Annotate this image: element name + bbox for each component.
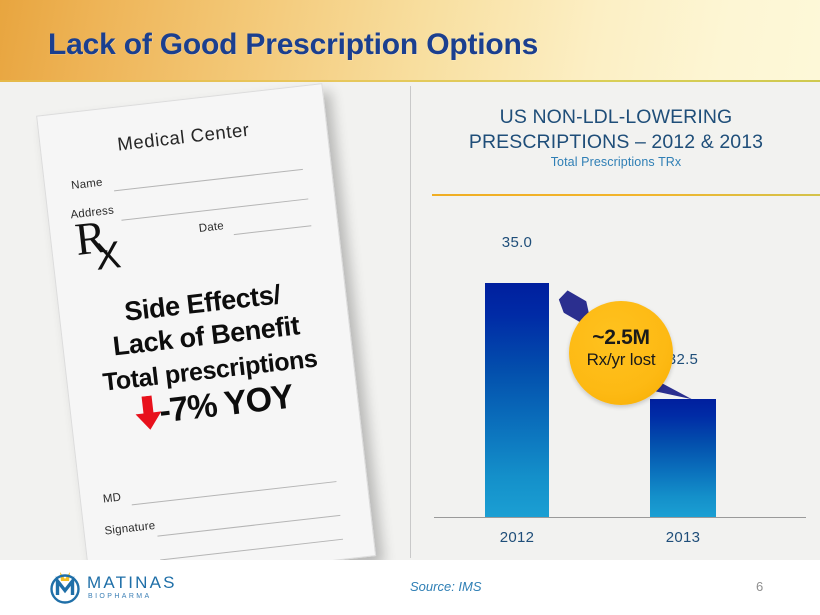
bar-value-2013: 32.5: [648, 351, 718, 368]
field-rule-signature-2: [160, 539, 343, 561]
slide-canvas: Lack of Good Prescription Options Medica…: [0, 0, 820, 615]
prescription-pad-graphic: Medical Center Name Address Date R X Sid…: [36, 83, 374, 586]
matinas-logo: MATINAS BIOPHARMA: [48, 568, 177, 606]
chart-plot-area: 35.0 32.5 2012 2013 ~2.5M Rx/yr lost: [412, 204, 820, 560]
logo-name: MATINAS: [87, 574, 177, 591]
page-number: 6: [756, 579, 763, 594]
chart-panel: US NON-LDL-LOWERING PRESCRIPTIONS – 2012…: [412, 84, 820, 560]
bar-2013[interactable]: [650, 399, 716, 517]
rx-symbol-x: X: [93, 236, 122, 277]
chart-header-rule: [432, 194, 820, 196]
panel-divider: [410, 86, 411, 558]
matinas-mark-icon: [48, 570, 82, 604]
chart-x-axis-line: [434, 517, 806, 518]
callout-headline: ~2.5M: [569, 326, 673, 350]
chart-subtitle: Total Prescriptions TRx: [412, 155, 820, 169]
clinic-name: Medical Center: [40, 110, 327, 164]
field-rule-date: [234, 225, 312, 235]
callout-arrow-upper-left-icon: [554, 287, 595, 328]
slide-footer: MATINAS BIOPHARMA Source: IMS 6: [0, 560, 820, 615]
bar-2012[interactable]: [485, 283, 549, 517]
field-rule-md: [132, 481, 337, 505]
prescription-pad-sheet: Medical Center Name Address Date R X Sid…: [36, 83, 376, 589]
bar-value-2012: 35.0: [482, 234, 552, 251]
field-label-signature: Signature: [104, 520, 156, 538]
field-label-date: Date: [198, 220, 224, 235]
field-rule-name: [114, 169, 303, 192]
field-label-md: MD: [102, 492, 122, 506]
chart-title-line-1: US NON-LDL-LOWERING: [500, 106, 733, 128]
source-note: Source: IMS: [410, 579, 482, 594]
x-axis-label-2013: 2013: [643, 529, 723, 546]
field-label-name: Name: [71, 177, 104, 192]
logo-tagline: BIOPHARMA: [88, 593, 177, 600]
chart-title: US NON-LDL-LOWERING PRESCRIPTIONS – 2012…: [412, 105, 820, 155]
x-axis-label-2012: 2012: [477, 529, 557, 546]
chart-title-line-2: PRESCRIPTIONS – 2012 & 2013: [469, 131, 763, 153]
rx-symbol-icon: R X: [73, 209, 150, 286]
logo-wordmark: MATINAS BIOPHARMA: [87, 574, 177, 600]
field-rule-signature-1: [157, 515, 340, 537]
page-title: Lack of Good Prescription Options: [48, 28, 538, 62]
field-rule-address: [121, 198, 308, 220]
callout-arrow-lower-right-icon: [636, 368, 692, 402]
